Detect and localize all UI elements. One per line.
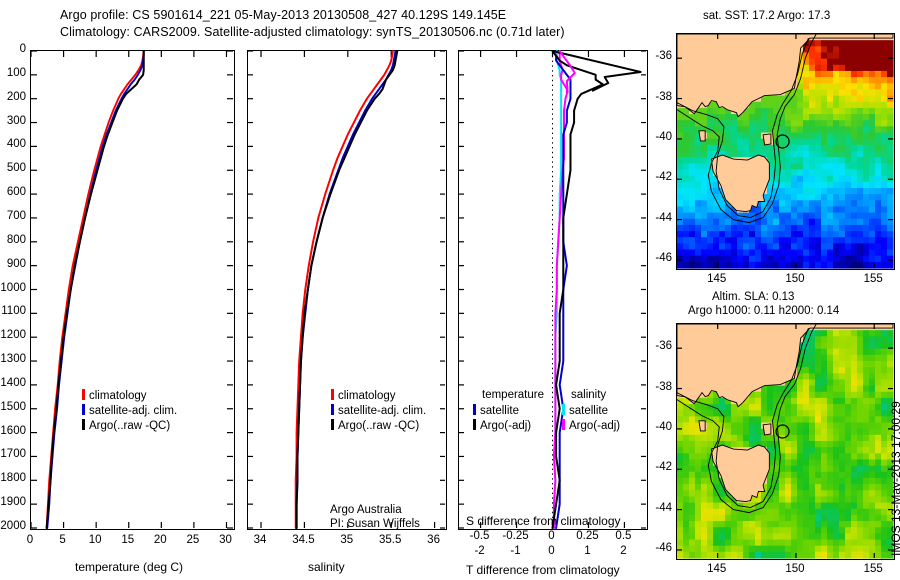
temperature-profile-plot <box>31 51 233 528</box>
legend-label: climatology <box>89 390 147 402</box>
depth-tick-label: 1500 <box>0 401 26 413</box>
salinity-profile-plot <box>248 51 445 528</box>
sst-map-title: sat. SST: 17.2 Argo: 17.3 <box>703 10 830 22</box>
depth-tick-label: 600 <box>0 186 26 198</box>
page-title-line2: Climatology: CARS2009. Satellite-adjuste… <box>60 25 565 39</box>
temperature-diff-tick-label: -2 <box>464 545 496 557</box>
temperature-axis-label: temperature (deg C) <box>75 560 183 574</box>
sst-map-lon-tick: 150 <box>779 273 811 285</box>
sla-map-lat-tick: -36 <box>642 340 672 352</box>
salinity-tick-label: 36 <box>414 534 454 546</box>
sla-map-panel <box>676 323 895 560</box>
depth-tick-label: 2000 <box>0 520 26 532</box>
depth-tick-label: 700 <box>0 210 26 222</box>
depth-tick-label: 1000 <box>0 282 26 294</box>
sst-map-lon-tick: 155 <box>857 273 889 285</box>
sla-map-lat-tick: -44 <box>642 502 672 514</box>
legend-label: Argo(..raw -QC) <box>338 420 419 432</box>
salinity-tick-label: 34.5 <box>283 534 323 546</box>
depth-tick-label: 200 <box>0 91 26 103</box>
temperature-legend-item: Argo(..raw -QC) <box>82 419 170 432</box>
legend-color-swatch <box>562 419 565 430</box>
salinity-tick-label: 35 <box>327 534 367 546</box>
depth-tick-label: 300 <box>0 115 26 127</box>
depth-tick-label: 500 <box>0 162 26 174</box>
sst-map-panel <box>676 33 895 270</box>
depth-tick-label: 900 <box>0 258 26 270</box>
depth-tick-label: 800 <box>0 234 26 246</box>
sst-map-lon-tick: 145 <box>701 273 733 285</box>
temperature-diff-tick-label: 0 <box>536 545 568 557</box>
salinity-axis-label: salinity <box>308 560 345 574</box>
legend-color-swatch <box>331 389 334 400</box>
legend-label: climatology <box>338 390 396 402</box>
difference-legend-item-temperature: Argo(-adj) <box>473 419 531 432</box>
legend-color-swatch <box>473 404 476 415</box>
credit-pi: PI: Susan Wijffels <box>330 518 420 530</box>
difference-legend-item-temperature: satellite <box>473 404 519 417</box>
temperature-tick-label: 10 <box>81 534 109 546</box>
legend-label: satellite-adj. clim. <box>89 405 177 417</box>
depth-tick-label: 1100 <box>0 305 26 317</box>
temperature-difference-axis-label: T difference from climatology <box>466 563 620 577</box>
sst-map-lat-tick: -40 <box>642 131 672 143</box>
legend-label: Argo(-adj) <box>569 420 620 432</box>
temperature-legend-item: climatology <box>82 389 147 402</box>
legend-color-swatch <box>82 404 85 415</box>
temperature-tick-label: 25 <box>179 534 207 546</box>
sla-map <box>677 324 893 558</box>
temperature-tick-label: 0 <box>16 534 44 546</box>
salinity-profile-panel <box>247 50 447 530</box>
depth-tick-label: 100 <box>0 67 26 79</box>
depth-tick-label: 1700 <box>0 448 26 460</box>
legend-label: Argo(-adj) <box>480 420 531 432</box>
salinity-legend-item: climatology <box>331 389 396 402</box>
depth-tick-label: 1900 <box>0 496 26 508</box>
legend-color-swatch <box>331 404 334 415</box>
sst-map-lat-tick: -46 <box>642 252 672 264</box>
sla-map-lon-tick: 145 <box>701 563 733 575</box>
depth-tick-label: 1400 <box>0 377 26 389</box>
sla-map-lat-tick: -46 <box>642 542 672 554</box>
temperature-tick-label: 5 <box>49 534 77 546</box>
legend-color-swatch <box>82 389 85 400</box>
difference-legend-header-salinity: salinity <box>571 389 606 401</box>
imos-signature: IMOS 13-May-2013 17:00:29 <box>889 401 900 556</box>
temperature-legend-item: satellite-adj. clim. <box>82 404 177 417</box>
page-title-line1: Argo profile: CS 5901614_221 05-May-2013… <box>60 8 506 22</box>
legend-label: satellite-adj. clim. <box>338 405 426 417</box>
difference-legend-item-salinity: Argo(-adj) <box>562 419 620 432</box>
temperature-diff-tick-label: 1 <box>571 545 603 557</box>
legend-color-swatch <box>82 419 85 430</box>
salinity-legend-item: satellite-adj. clim. <box>331 404 426 417</box>
difference-legend-header-temperature: temperature <box>482 389 544 401</box>
sst-map <box>677 34 893 268</box>
legend-label: satellite <box>480 405 519 417</box>
sla-map-lat-tick: -42 <box>642 461 672 473</box>
legend-label: Argo(..raw -QC) <box>89 420 170 432</box>
depth-tick-label: 1800 <box>0 472 26 484</box>
sst-map-lat-tick: -44 <box>642 212 672 224</box>
credit-argo-australia: Argo Australia <box>330 504 402 516</box>
temperature-diff-tick-label: -1 <box>500 545 532 557</box>
sla-map-lon-tick: 150 <box>779 563 811 575</box>
legend-label: satellite <box>569 405 608 417</box>
sla-map-lat-tick: -40 <box>642 421 672 433</box>
figure-root: Argo profile: CS 5901614_221 05-May-2013… <box>0 0 900 580</box>
temperature-diff-tick-label: 2 <box>607 545 639 557</box>
sla-map-title-line1: Altim. SLA: 0.13 <box>712 291 794 303</box>
temperature-tick-label: 15 <box>114 534 142 546</box>
salinity-legend-item: Argo(..raw -QC) <box>331 419 419 432</box>
sla-map-lat-tick: -38 <box>642 381 672 393</box>
legend-color-swatch <box>331 419 334 430</box>
temperature-tick-label: 30 <box>211 534 239 546</box>
temperature-tick-label: 20 <box>146 534 174 546</box>
sst-map-lat-tick: -42 <box>642 171 672 183</box>
sst-map-lat-tick: -36 <box>642 50 672 62</box>
salinity-diff-tick-label: 0.5 <box>601 530 645 542</box>
sst-map-lat-tick: -38 <box>642 91 672 103</box>
depth-tick-label: 400 <box>0 138 26 150</box>
salinity-difference-axis-label: S difference from climatology <box>466 514 621 528</box>
sla-map-lon-tick: 155 <box>857 563 889 575</box>
salinity-tick-label: 35.5 <box>370 534 410 546</box>
temperature-profile-panel <box>30 50 235 530</box>
depth-tick-label: 1200 <box>0 329 26 341</box>
depth-tick-label: 1600 <box>0 425 26 437</box>
sla-map-title-line2: Argo h1000: 0.11 h2000: 0.14 <box>688 305 839 317</box>
depth-tick-label: 0 <box>0 43 26 55</box>
difference-legend-item-salinity: satellite <box>562 404 608 417</box>
difference-profile-plot <box>459 51 646 528</box>
salinity-tick-label: 34 <box>240 534 280 546</box>
difference-profile-panel <box>458 50 648 530</box>
legend-color-swatch <box>473 419 476 430</box>
legend-color-swatch <box>562 404 565 415</box>
depth-tick-label: 1300 <box>0 353 26 365</box>
